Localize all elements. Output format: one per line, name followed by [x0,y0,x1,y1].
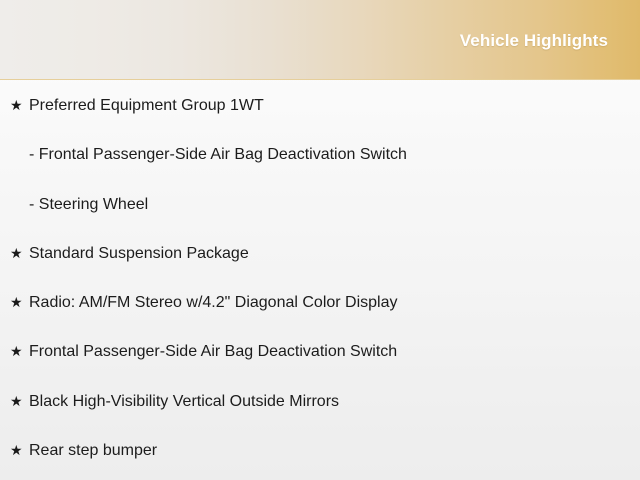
star-bullet-icon: ★ [10,327,24,376]
list-item-label: Rear step bumper [29,426,157,475]
list-item-label: Black High-Visibility Vertical Outside M… [29,377,339,426]
list-item: ★Standard Suspension Package [0,229,640,278]
list-item-label: Radio: AM/FM Stereo w/4.2" Diagonal Colo… [29,278,398,327]
list-item: ★Frontal Passenger-Side Air Bag Deactiva… [0,327,640,376]
list-item-label: Standard Suspension Package [29,229,249,278]
list-item: ★Rear step bumper [0,426,640,475]
page-title: Vehicle Highlights [460,31,608,51]
star-bullet-icon: ★ [10,426,24,475]
star-bullet-icon: ★ [10,278,24,327]
list-item-label: Frontal Passenger-Side Air Bag Deactivat… [29,327,397,376]
list-item-label: Preferred Equipment Group 1WT [29,81,264,130]
list-item-label: - Frontal Passenger-Side Air Bag Deactiv… [29,130,407,179]
list-item: ★Black High-Visibility Vertical Outside … [0,377,640,426]
vehicle-highlights-panel: Vehicle Highlights ★Preferred Equipment … [0,0,640,480]
list-item: ★Radio: AM/FM Stereo w/4.2" Diagonal Col… [0,278,640,327]
list-item: ★Preferred Equipment Group 1WT [0,81,640,130]
list-item-label: - Steering Wheel [29,180,148,229]
panel-header: Vehicle Highlights [0,0,640,80]
star-bullet-icon: ★ [10,81,24,130]
list-item: - Steering Wheel [0,180,640,229]
star-bullet-icon: ★ [10,229,24,278]
star-bullet-icon: ★ [10,377,24,426]
list-item: - Frontal Passenger-Side Air Bag Deactiv… [0,130,640,179]
vehicle-highlights-list: ★Preferred Equipment Group 1WT- Frontal … [0,81,640,475]
